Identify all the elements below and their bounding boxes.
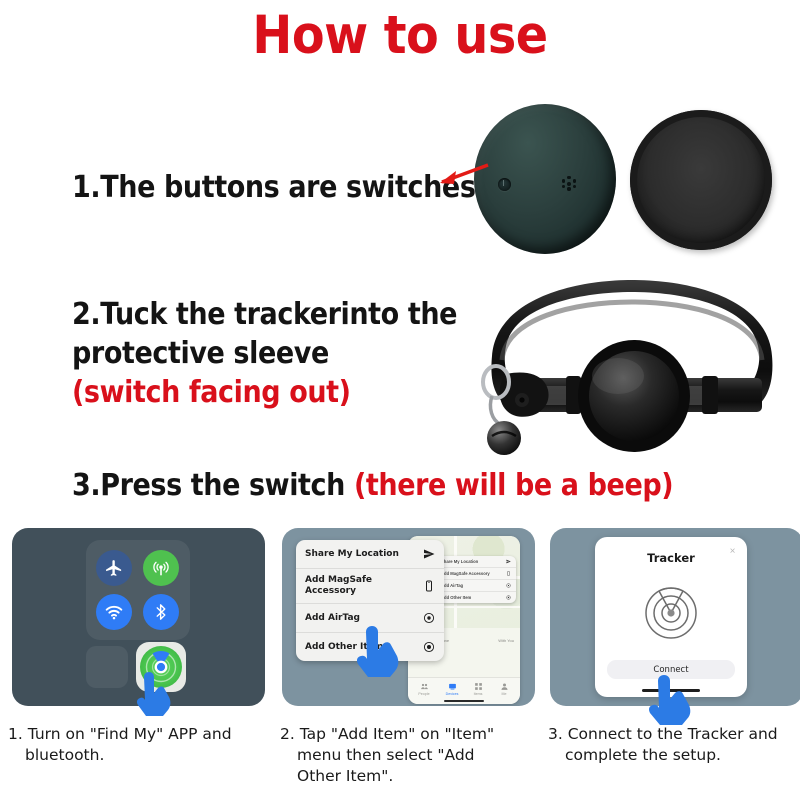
tracker-back-face [630, 110, 772, 250]
mini-menu-label: Add AirTag [441, 583, 463, 588]
hand-tap-icon [132, 668, 178, 718]
tab-label: People [418, 692, 429, 696]
phone-icon [506, 571, 511, 576]
tracker-pucks-illustration [462, 100, 792, 260]
mini-menu-label: Share My Location [441, 559, 478, 564]
cellular-icon [151, 558, 171, 578]
radar-target-icon [641, 581, 701, 641]
mini-menu-item: Add Other Item [436, 592, 516, 603]
mini-menu-label: Add MagSafe Accessory [441, 571, 490, 576]
step-2-number: 2. [72, 297, 100, 332]
empty-tile-placeholder [86, 646, 128, 688]
home-indicator [444, 700, 484, 702]
close-icon[interactable]: × [727, 546, 738, 557]
step-1-number: 1. [72, 170, 100, 205]
page-title: How to use [0, 6, 800, 66]
items-icon [474, 682, 483, 691]
menu-item-add-magsafe-accessory[interactable]: Add MagSafe Accessory [296, 569, 444, 604]
step-3-text: Press the switch [100, 468, 345, 503]
hand-tap-icon [645, 672, 697, 726]
caption-3-line1: Connect to the Tracker and [568, 725, 778, 743]
airplane-mode-toggle[interactable] [96, 550, 132, 586]
target-icon [506, 595, 511, 600]
how-to-use-infographic: How to use 1.The buttons are switches 2.… [0, 0, 800, 800]
hand-tap-icon [352, 622, 406, 678]
wifi-toggle[interactable] [96, 594, 132, 630]
step-2-note: (switch facing out) [72, 373, 502, 412]
wifi-icon [104, 602, 124, 622]
airplane-icon [105, 559, 124, 578]
people-icon [420, 682, 429, 691]
mini-menu-label: Add Other Item [441, 595, 471, 600]
panel-add-item: Share My Location Add MagSafe Accessory … [282, 528, 535, 706]
cellular-data-toggle[interactable] [143, 550, 179, 586]
phone-icon [423, 580, 435, 592]
tab-label: Devices [446, 692, 459, 696]
caption-2-line3: Other Item". [280, 766, 542, 787]
tab-people[interactable]: People [410, 682, 438, 696]
mini-menu-item: Add AirTag [436, 580, 516, 592]
me-icon [500, 682, 509, 691]
tab-devices[interactable]: Devices [438, 682, 466, 696]
caption-3-number: 3. [548, 725, 563, 743]
step-3-note: (there will be a beep) [354, 468, 673, 503]
mini-menu-item: Share My Location [436, 556, 516, 568]
menu-item-label: Add MagSafe Accessory [305, 575, 417, 597]
phone-tab-bar: People Devices Items Me [408, 677, 520, 704]
target-icon [423, 641, 435, 653]
caption-2-line1: Tap "Add Item" on "Item" [300, 725, 494, 743]
dialog-title: Tracker [595, 551, 747, 565]
step-2-text: Tuck the trackerinto the protective slee… [72, 297, 457, 371]
caption-1-line2: bluetooth. [8, 745, 270, 766]
speaker-grille-icon [562, 176, 576, 190]
mini-menu-preview: Share My Location Add MagSafe Accessory … [436, 556, 516, 603]
step-3-heading: 3.Press the switch (there will be a beep… [72, 468, 673, 504]
caption-3-line2: complete the setup. [548, 745, 800, 766]
pointer-arrow-icon [440, 160, 510, 190]
tab-items[interactable]: Items [464, 682, 492, 696]
tab-label: Me [502, 692, 507, 696]
caption-1: 1. Turn on "Find My" APP and bluetooth. [8, 724, 270, 766]
bluetooth-toggle[interactable] [143, 594, 179, 630]
list-meta-label: With You [498, 638, 514, 643]
control-center-group [86, 540, 190, 640]
tab-label: Items [474, 692, 483, 696]
caption-3: 3. Connect to the Tracker and complete t… [548, 724, 800, 766]
bluetooth-icon [152, 603, 170, 621]
paper-plane-icon [506, 559, 511, 564]
tab-me[interactable]: Me [490, 682, 518, 696]
mini-menu-item: Add MagSafe Accessory [436, 568, 516, 580]
step-1-heading: 1.The buttons are switches [72, 170, 476, 206]
caption-1-line1: Turn on "Find My" APP and [28, 725, 232, 743]
caption-2: 2. Tap "Add Item" on "Item" menu then se… [280, 724, 542, 787]
menu-item-label: Share My Location [305, 549, 399, 560]
step-2-heading: 2.Tuck the trackerinto the protective sl… [72, 295, 502, 412]
caption-1-number: 1. [8, 725, 23, 743]
airtag-icon [423, 612, 435, 624]
caption-2-number: 2. [280, 725, 295, 743]
menu-item-share-my-location[interactable]: Share My Location [296, 540, 444, 569]
step-1-text: The buttons are switches [100, 170, 475, 205]
airtag-icon [506, 583, 511, 588]
pet-collar-illustration [462, 278, 800, 470]
paper-plane-icon [423, 548, 435, 560]
caption-2-line2: menu then select "Add [280, 745, 542, 766]
step-3-number: 3. [72, 468, 100, 503]
devices-icon [448, 682, 457, 691]
